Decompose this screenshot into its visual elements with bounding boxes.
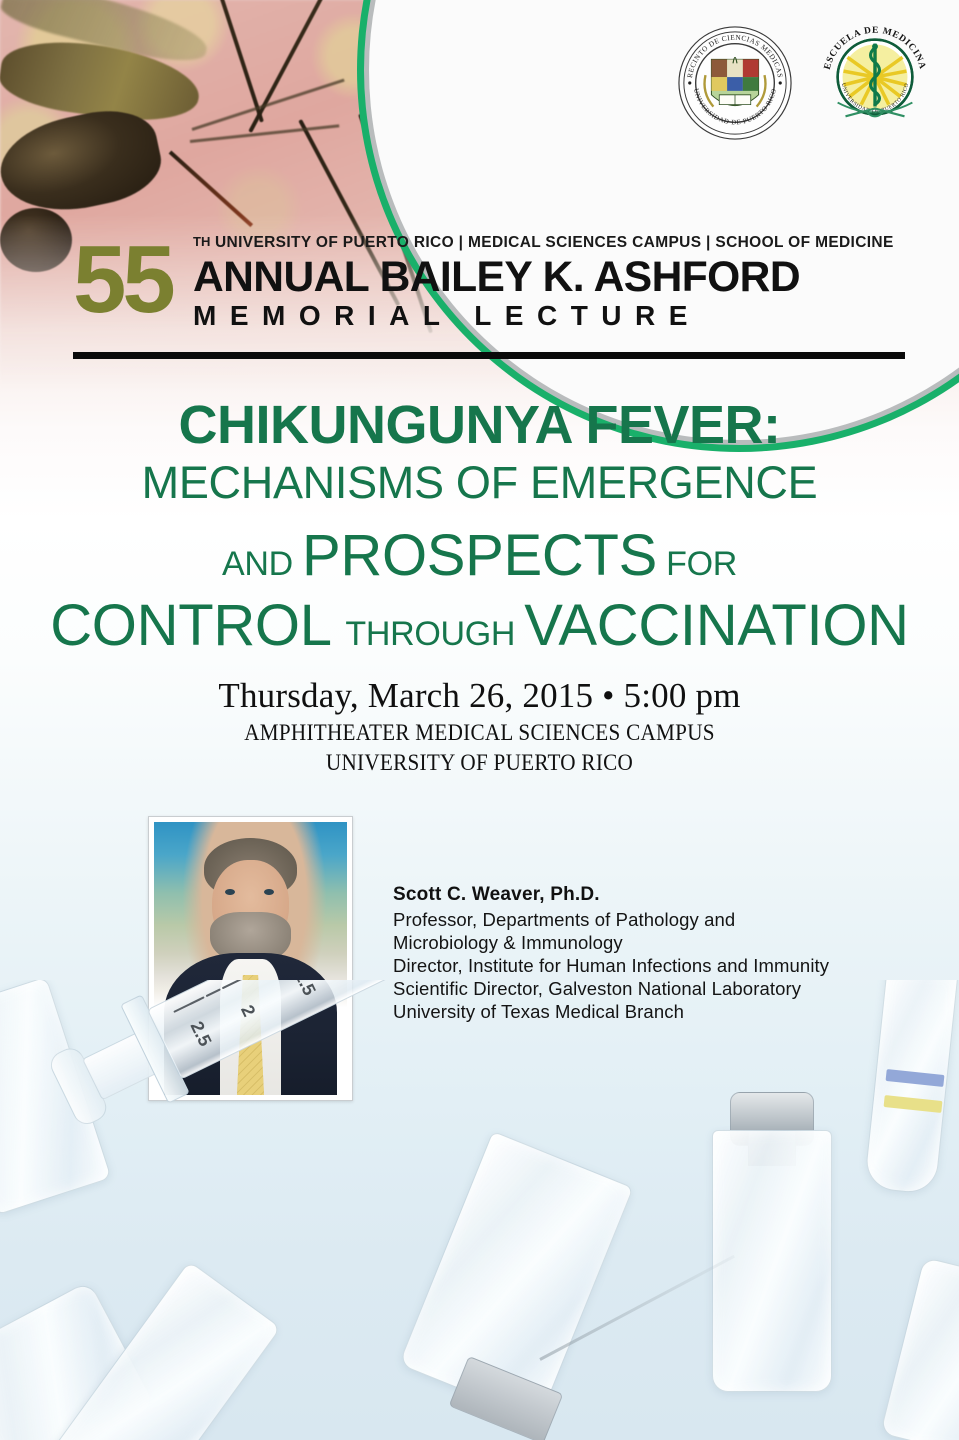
ordinal-suffix: TH [193, 234, 210, 249]
glass-vial-bottom-right [880, 1257, 959, 1440]
title-for: FOR [657, 545, 737, 583]
edition-number: 55 [73, 232, 172, 328]
syringe-barrel: 2.5 2 1.5 1 0.5 [147, 980, 444, 1080]
title-line-2: MECHANISMS OF EMERGENCE [0, 460, 959, 505]
speaker-affiliation: Microbiology & Immunology [393, 931, 938, 954]
series-title: ANNUAL BAILEY K. ASHFORD [193, 254, 901, 300]
title-line-1: CHIKUNGUNYA FEVER: [0, 398, 959, 452]
title-vaccination: VACCINATION [524, 593, 908, 658]
title-line-4: CONTROL THROUGH VACCINATION [0, 597, 959, 655]
event-venue: AMPHITHEATER MEDICAL SCIENCES CAMPUS [38, 720, 920, 746]
institution-text: UNIVERSITY OF PUERTO RICO | MEDICAL SCIE… [215, 234, 894, 251]
title-control: CONTROL [50, 593, 345, 658]
test-tube [864, 980, 959, 1195]
speaker-name: Scott C. Weaver, Ph.D. [393, 884, 938, 906]
vial-right [712, 1130, 832, 1392]
escuela-de-medicina-seal: ESCUELA DE MEDICINA UNIVERSIDAD DE PUERT… [816, 18, 934, 136]
poster-canvas: RECINTO DE CIENCIAS MEDICAS UNIVERSIDAD … [0, 0, 959, 1440]
syringe-scale-2: 2 [236, 1002, 259, 1020]
seal-group: RECINTO DE CIENCIAS MEDICAS UNIVERSIDAD … [676, 18, 946, 148]
speaker-affiliation: Professor, Departments of Pathology and [393, 908, 938, 931]
recinto-de-ciencias-medicas-seal: RECINTO DE CIENCIAS MEDICAS UNIVERSIDAD … [676, 24, 794, 142]
event-date-time: Thursday, March 26, 2015 • 5:00 pm [0, 676, 959, 716]
syringe-scale-2-5: 2.5 [186, 1018, 216, 1050]
lecture-title: CHIKUNGUNYA FEVER: MECHANISMS OF EMERGEN… [0, 398, 959, 655]
institution-line: TH UNIVERSITY OF PUERTO RICO | MEDICAL S… [193, 234, 908, 252]
syringe-scale-1-5: 1.5 [290, 980, 320, 999]
title-prospects: PROSPECTS [302, 523, 657, 588]
title-and: AND [222, 545, 302, 583]
series-subtitle: MEMORIAL LECTURE [193, 301, 908, 331]
event-details: Thursday, March 26, 2015 • 5:00 pm AMPHI… [0, 676, 959, 776]
header-divider-rule [73, 352, 905, 359]
title-through: THROUGH [345, 615, 524, 653]
vaccine-artwork: 2.5 2 1.5 1 0.5 [0, 980, 959, 1440]
title-line-3: AND PROSPECTS FOR [0, 527, 959, 585]
speaker-affiliation: Director, Institute for Human Infections… [393, 954, 938, 977]
event-venue-institution: UNIVERSITY OF PUERTO RICO [38, 750, 920, 776]
syringe: 2.5 2 1.5 1 0.5 [62, 980, 537, 1139]
